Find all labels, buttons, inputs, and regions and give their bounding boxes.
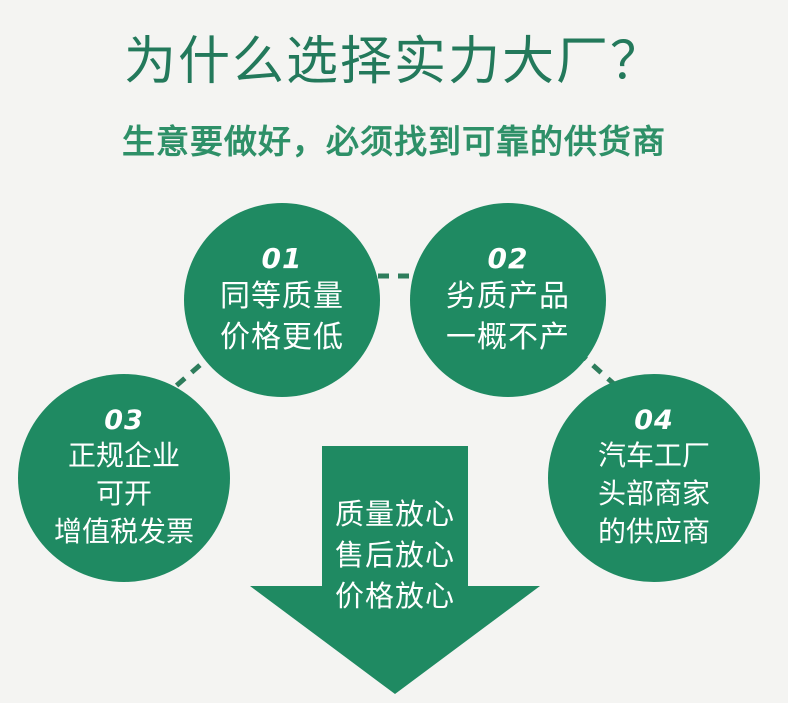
arrow-line-2: 售后放心: [250, 535, 540, 576]
bubble-03-line-2: 可开: [54, 475, 194, 513]
bubble-04-line-1: 汽车工厂: [598, 437, 710, 475]
page-subtitle: 生意要做好，必须找到可靠的供货商: [0, 124, 788, 160]
bubble-text-04: 汽车工厂 头部商家 的供应商: [598, 437, 710, 551]
infographic-poster: 为什么选择实力大厂？ 生意要做好，必须找到可靠的供货商 质量放心 售后放心 价格…: [0, 0, 788, 703]
bubble-04-line-3: 的供应商: [598, 513, 710, 551]
bubble-02-line-1: 劣质产品: [446, 277, 570, 318]
bubble-02-line-2: 一概不产: [446, 318, 570, 359]
benefit-bubble-01[interactable]: 01 同等质量 价格更低: [184, 203, 380, 397]
benefit-bubble-04[interactable]: 04 汽车工厂 头部商家 的供应商: [548, 374, 760, 582]
bubble-04-line-2: 头部商家: [598, 475, 710, 513]
arrow-line-1: 质量放心: [250, 494, 540, 535]
bubble-01-line-1: 同等质量: [220, 277, 344, 318]
bubble-text-02: 劣质产品 一概不产: [446, 277, 570, 358]
arrow-text-block: 质量放心 售后放心 价格放心: [250, 494, 540, 618]
bubble-01-line-2: 价格更低: [220, 318, 344, 359]
bubble-text-01: 同等质量 价格更低: [220, 277, 344, 358]
benefit-bubble-02[interactable]: 02 劣质产品 一概不产: [410, 203, 606, 397]
benefit-bubble-03[interactable]: 03 正规企业 可开 增值税发票: [18, 374, 230, 582]
bubble-number-02: 02: [488, 242, 529, 275]
bubble-number-04: 04: [634, 405, 674, 436]
bubble-text-03: 正规企业 可开 增值税发票: [54, 437, 194, 551]
bubble-number-03: 03: [104, 405, 144, 436]
bubble-number-01: 01: [262, 242, 303, 275]
arrow-line-3: 价格放心: [250, 576, 540, 617]
bubble-03-line-1: 正规企业: [54, 437, 194, 475]
bubble-03-line-3: 增值税发票: [54, 513, 194, 551]
page-title: 为什么选择实力大厂？: [0, 34, 788, 91]
